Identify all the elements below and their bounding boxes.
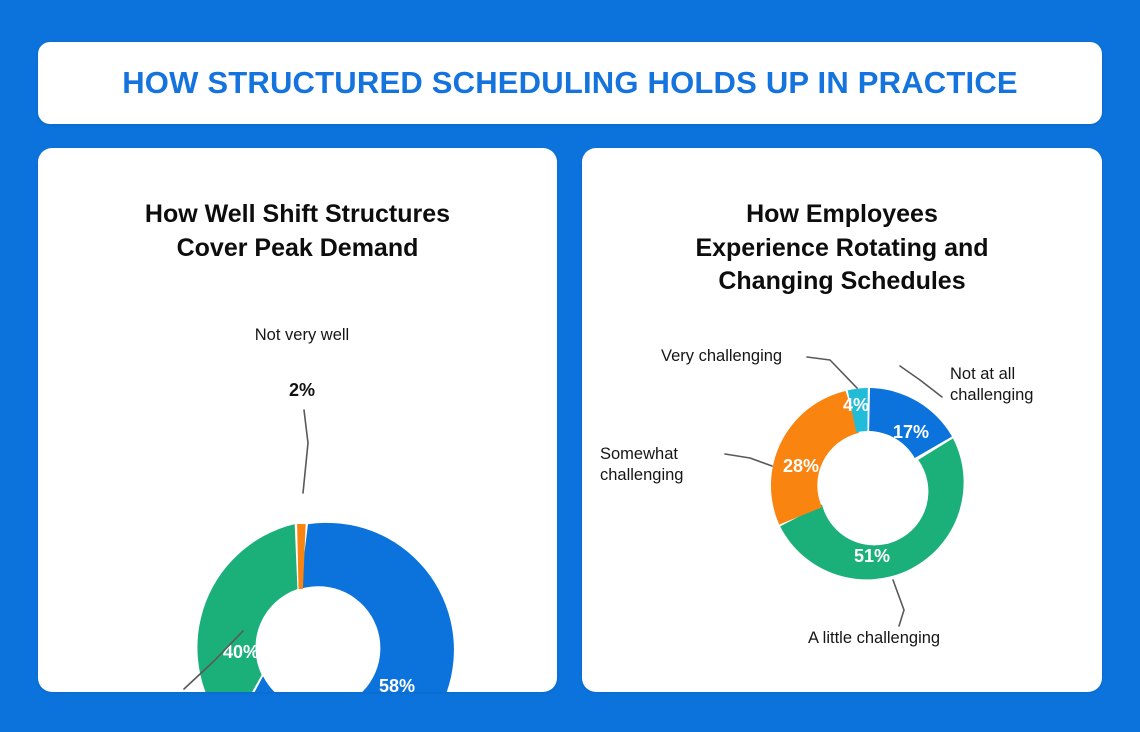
slice-value-not-at-all: 17% [893, 422, 929, 442]
leader-line-a-little [893, 580, 904, 626]
donut-chart-right: 17% 51% 28% 4% Very challenging Not at a… [582, 148, 1102, 692]
donut-slices-left [197, 523, 453, 692]
slice-value-a-little: 51% [854, 546, 890, 566]
header-banner: HOW STRUCTURED SCHEDULING HOLDS UP IN PR… [38, 42, 1102, 124]
chart-card-left: How Well Shift Structures Cover Peak Dem… [38, 148, 557, 692]
page-title: HOW STRUCTURED SCHEDULING HOLDS UP IN PR… [122, 65, 1018, 101]
leader-line-not-at-all [900, 366, 942, 397]
donut-slice-somewhat-well[interactable] [197, 524, 297, 692]
slice-value-not-very-well: 2% [289, 380, 315, 400]
category-label-a-little: A little challenging [808, 629, 940, 647]
infographic-page: HOW STRUCTURED SCHEDULING HOLDS UP IN PR… [0, 0, 1140, 732]
chart-card-right: How Employees Experience Rotating and Ch… [582, 148, 1102, 692]
leader-line-very [807, 357, 857, 388]
donut-chart-left: 58% 40% 2% Not very well Somewhat well V… [38, 148, 557, 692]
category-label-not-at-all: Not at all challenging [950, 365, 1033, 404]
leader-line-somewhat [725, 454, 772, 466]
category-label-somewhat: Somewhat challenging [600, 445, 683, 484]
category-label-somewhat-line2: challenging [600, 466, 683, 484]
category-label-very: Very challenging [661, 347, 782, 365]
category-label-not-very-well: Not very well [255, 326, 349, 344]
category-label-not-at-all-line2: challenging [950, 386, 1033, 404]
category-label-somewhat-line1: Somewhat [600, 445, 678, 463]
leader-line-not-very-well [303, 410, 308, 493]
slice-value-somewhat: 28% [783, 456, 819, 476]
slice-value-very: 4% [843, 395, 869, 415]
category-label-not-at-all-line1: Not at all [950, 365, 1015, 383]
slice-value-very-well: 58% [379, 676, 415, 692]
